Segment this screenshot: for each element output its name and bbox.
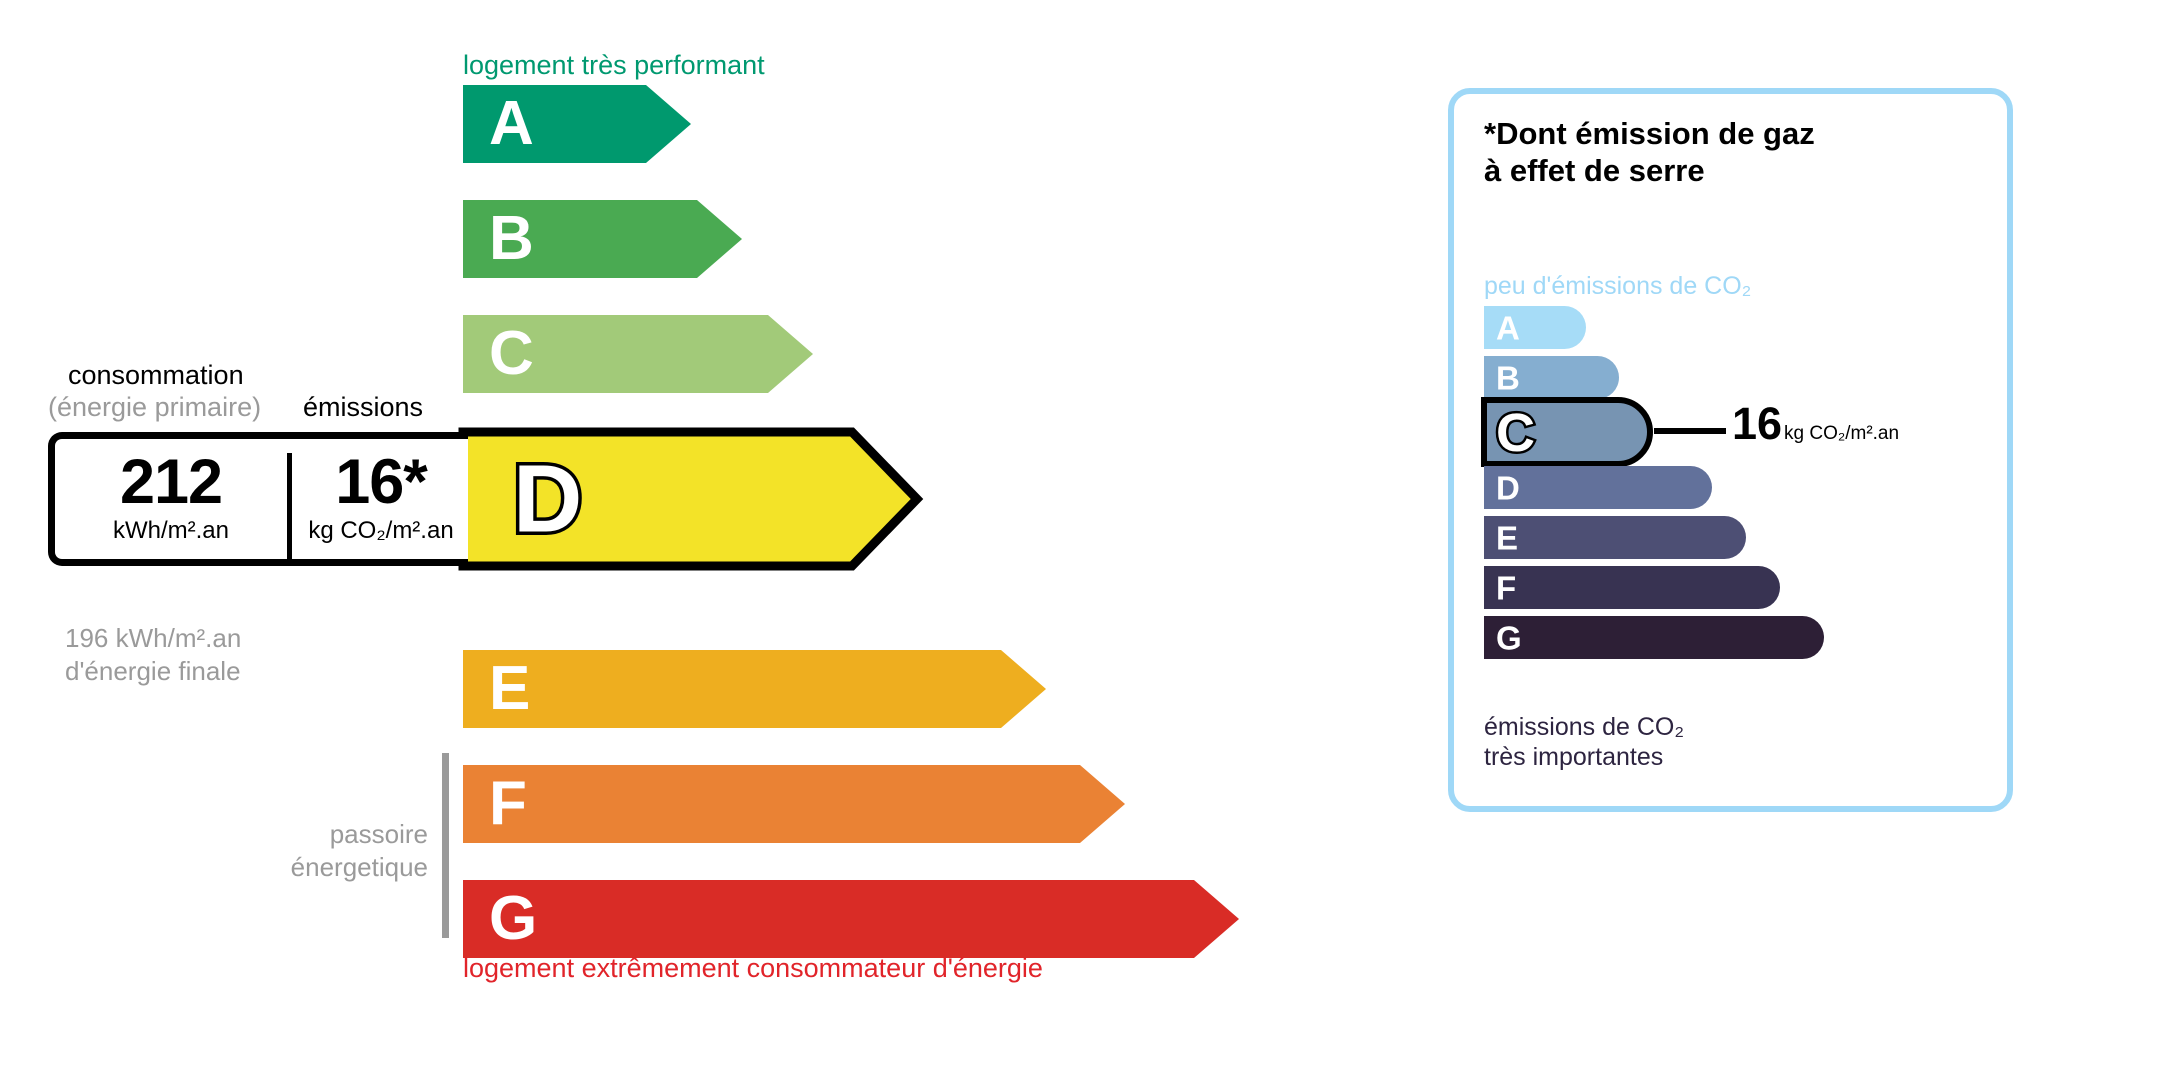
energy-bottom-caption: logement extrêmement consommateur d'éner… bbox=[463, 953, 1043, 984]
energy-band-g[interactable]: G bbox=[463, 880, 1239, 958]
primary-energy-cell: 212 kWh/m².an bbox=[55, 439, 287, 559]
co2-callout-value: 16 bbox=[1732, 401, 1782, 446]
co2-band-a[interactable]: A bbox=[1484, 306, 1586, 349]
emissions-cell: 16* kg CO₂/m².an bbox=[291, 439, 471, 559]
co2-emissions-panel: *Dont émission de gaz à effet de serre p… bbox=[1448, 88, 2013, 812]
co2-band-c-selected[interactable]: C bbox=[1478, 394, 1658, 470]
energy-band-b[interactable]: B bbox=[463, 200, 742, 278]
energy-top-caption: logement très performant bbox=[463, 50, 765, 81]
passoire-label-line1: passoire bbox=[200, 818, 428, 851]
energy-band-c-tip bbox=[768, 315, 813, 393]
energy-band-c[interactable]: C bbox=[463, 315, 813, 393]
energy-band-e[interactable]: E bbox=[463, 650, 1046, 728]
co2-band-c-shape: C bbox=[1478, 394, 1658, 470]
co2-bottom-caption-line2: très importantes bbox=[1484, 742, 1684, 772]
final-energy-note: 196 kWh/m².an d'énergie finale bbox=[65, 622, 241, 687]
co2-band-f[interactable]: F bbox=[1484, 566, 1780, 609]
svg-text:C: C bbox=[1496, 403, 1535, 463]
energy-band-f-body bbox=[463, 765, 1080, 843]
energy-band-e-letter: E bbox=[489, 658, 530, 720]
co2-band-g[interactable]: G bbox=[1484, 616, 1824, 659]
primary-energy-unit: kWh/m².an bbox=[113, 517, 229, 545]
emissions-value: 16* bbox=[335, 453, 427, 513]
energy-band-b-tip bbox=[697, 200, 742, 278]
co2-callout-leader-line bbox=[1654, 428, 1726, 434]
co2-band-b-letter: B bbox=[1496, 361, 1520, 394]
co2-title-line2: à effet de serre bbox=[1484, 153, 1815, 190]
energy-performance-scale: logement très performant A B C D E F bbox=[0, 0, 1400, 1079]
co2-callout-unit: kg CO₂/m².an bbox=[1784, 424, 1899, 443]
co2-band-d[interactable]: D bbox=[1484, 466, 1712, 509]
energy-band-g-letter: G bbox=[489, 888, 537, 950]
energy-band-e-body bbox=[463, 650, 1001, 728]
label-consommation: consommation bbox=[68, 360, 244, 391]
energy-band-g-body bbox=[463, 880, 1194, 958]
energy-band-f[interactable]: F bbox=[463, 765, 1125, 843]
passoire-label: passoire énergetique bbox=[200, 818, 428, 883]
energy-band-d-shape: D bbox=[455, 422, 925, 576]
energy-band-g-tip bbox=[1194, 880, 1239, 958]
co2-band-g-letter: G bbox=[1496, 621, 1522, 654]
energy-value-box: 212 kWh/m².an 16* kg CO₂/m².an bbox=[48, 432, 468, 566]
co2-band-e-letter: E bbox=[1496, 521, 1518, 554]
co2-panel-title: *Dont émission de gaz à effet de serre bbox=[1484, 116, 1815, 189]
co2-band-a-letter: A bbox=[1496, 311, 1520, 344]
energy-band-f-letter: F bbox=[489, 773, 527, 835]
energy-band-b-letter: B bbox=[489, 208, 534, 270]
passoire-bracket bbox=[442, 753, 449, 938]
final-energy-value: 196 kWh/m².an bbox=[65, 622, 241, 655]
passoire-label-line2: énergetique bbox=[200, 851, 428, 884]
emissions-unit: kg CO₂/m².an bbox=[308, 517, 453, 545]
energy-band-a-tip bbox=[646, 85, 691, 163]
co2-top-caption: peu d'émissions de CO₂ bbox=[1484, 272, 1751, 301]
co2-bottom-caption-line1: émissions de CO₂ bbox=[1484, 712, 1684, 742]
primary-energy-value: 212 bbox=[120, 453, 222, 513]
co2-bottom-caption: émissions de CO₂ très importantes bbox=[1484, 712, 1684, 772]
energy-band-d-selected[interactable]: D bbox=[455, 422, 925, 576]
co2-band-e[interactable]: E bbox=[1484, 516, 1746, 559]
co2-band-b[interactable]: B bbox=[1484, 356, 1619, 399]
co2-title-line1: *Dont émission de gaz bbox=[1484, 116, 1815, 153]
energy-band-e-tip bbox=[1001, 650, 1046, 728]
energy-band-a-letter: A bbox=[489, 93, 534, 155]
energy-band-a[interactable]: A bbox=[463, 85, 691, 163]
label-emissions: émissions bbox=[303, 392, 423, 423]
energy-band-f-tip bbox=[1080, 765, 1125, 843]
label-consommation-sub: (énergie primaire) bbox=[48, 392, 261, 423]
co2-band-f-letter: F bbox=[1496, 571, 1516, 604]
final-energy-text: d'énergie finale bbox=[65, 655, 241, 688]
co2-band-d-letter: D bbox=[1496, 471, 1520, 504]
svg-text:D: D bbox=[513, 446, 582, 553]
energy-band-c-letter: C bbox=[489, 323, 534, 385]
